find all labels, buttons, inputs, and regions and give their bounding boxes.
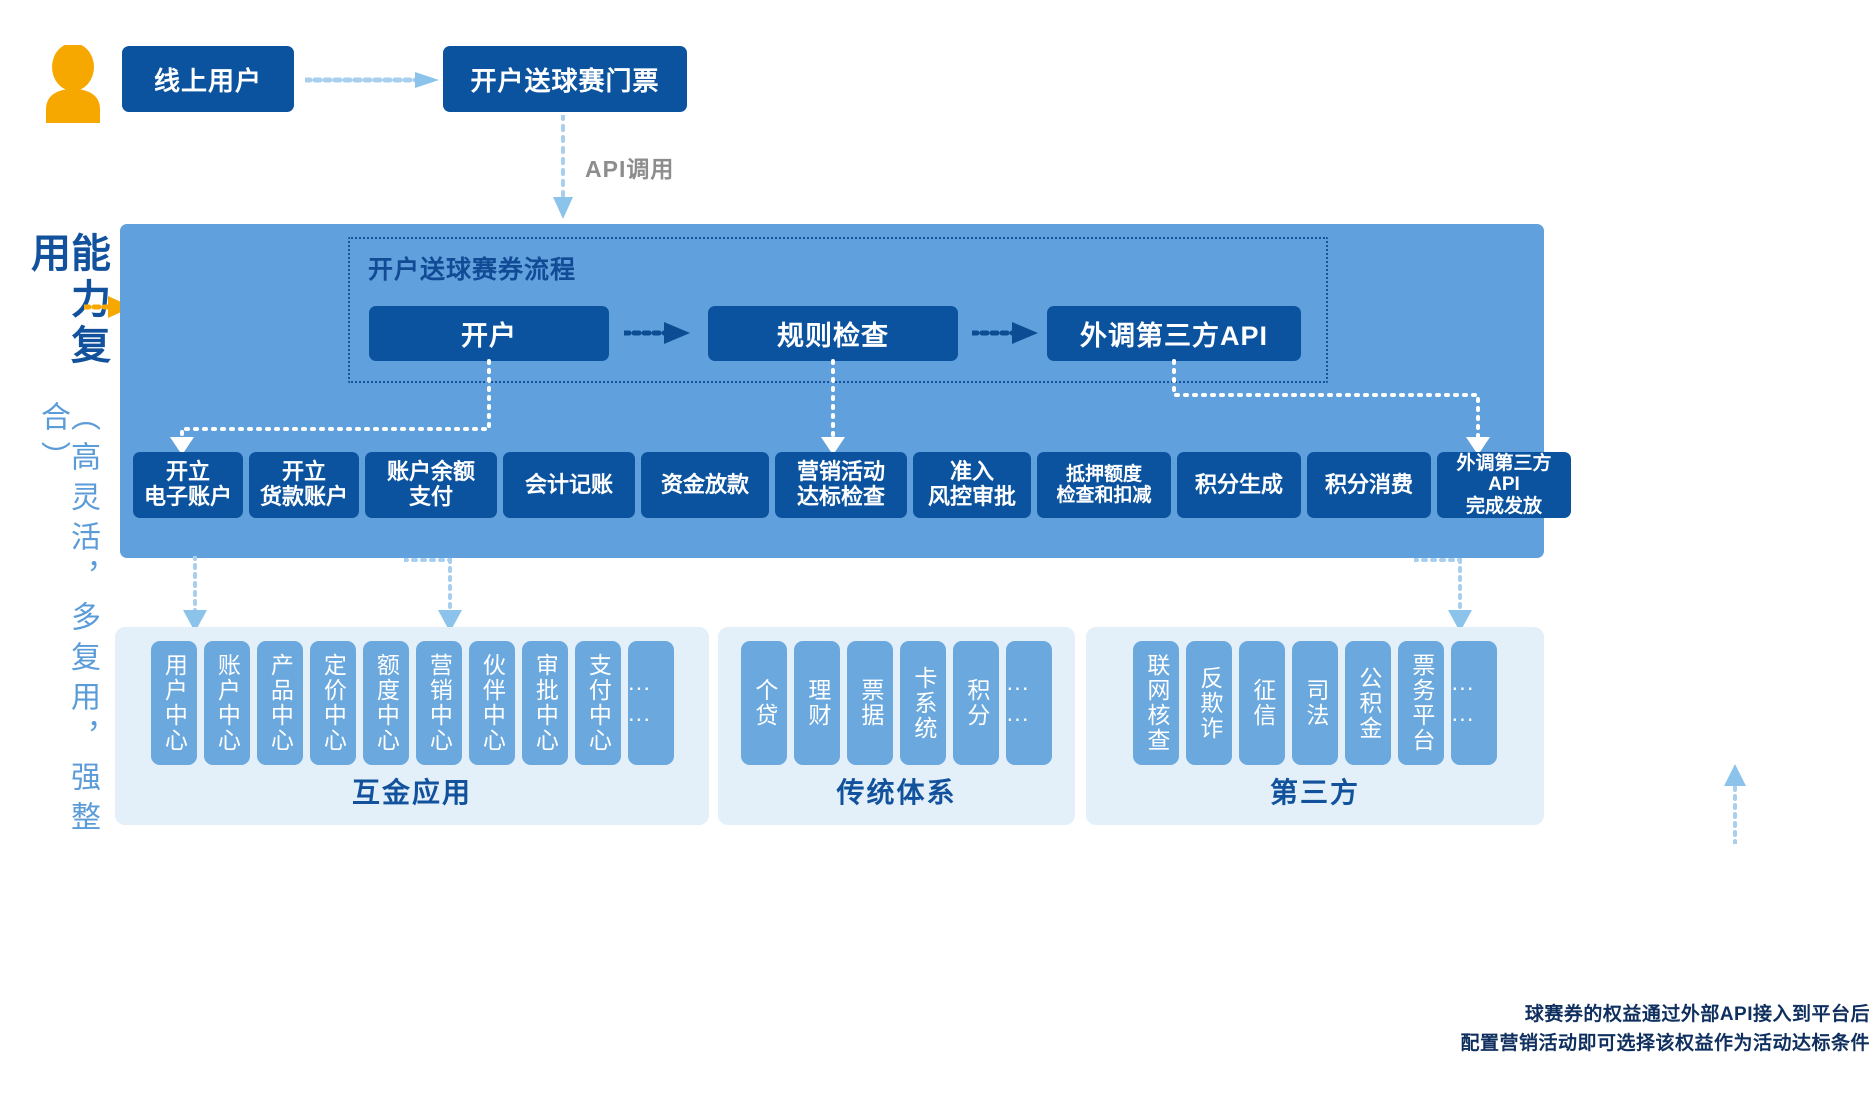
capability-chip[interactable]: 账户余额 支付 — [365, 452, 497, 518]
system-chip[interactable]: 联网核查 — [1133, 641, 1179, 765]
box-online-user[interactable]: 线上用户 — [122, 46, 294, 112]
system-chip[interactable]: 支付中心 — [575, 641, 621, 765]
flow-step-open-account[interactable]: 开户 — [369, 306, 609, 361]
capability-chip[interactable]: 会计记账 — [503, 452, 635, 518]
capability-reuse-subtitle: （高灵活，多复用，强整合） — [37, 401, 97, 852]
capability-chip[interactable]: 外调第三方API 完成发放 — [1437, 452, 1571, 518]
capability-chip[interactable]: 积分消费 — [1307, 452, 1431, 518]
capability-reuse-caption: 能力复用 （高灵活，多复用，强整合） — [30, 232, 104, 852]
capability-chip[interactable]: 开立 货款账户 — [249, 452, 359, 518]
capability-chip[interactable]: 抵押额度 检查和扣减 — [1037, 452, 1171, 518]
system-chip-more[interactable]: ··· ··· — [1451, 641, 1497, 765]
system-panel-chuantong: 个贷 理财 票据 卡系统 积分 ··· ··· 传统体系 — [718, 627, 1075, 825]
capability-chip[interactable]: 开立 电子账户 — [133, 452, 243, 518]
system-chip[interactable]: 积分 — [953, 641, 999, 765]
system-chip[interactable]: 理财 — [794, 641, 840, 765]
system-chip[interactable]: 产品中心 — [257, 641, 303, 765]
flow-frame-title: 开户送球赛券流程 — [368, 250, 576, 286]
system-panel-title: 第三方 — [1086, 771, 1544, 811]
system-chip[interactable]: 定价中心 — [310, 641, 356, 765]
box-gift-ticket[interactable]: 开户送球赛门票 — [443, 46, 687, 112]
flow-arrow-2-icon — [972, 322, 1038, 344]
system-chip[interactable]: 卡系统 — [900, 641, 946, 765]
system-chip[interactable]: 征信 — [1239, 641, 1285, 765]
system-chip-more[interactable]: ··· ··· — [1006, 641, 1052, 765]
system-chip-row: 联网核查 反欺诈 征信 司法 公积金 票务平台 ··· ··· — [1086, 641, 1544, 765]
system-chip[interactable]: 账户中心 — [204, 641, 250, 765]
system-panel-hujin: 用户中心 账户中心 产品中心 定价中心 额度中心 营销中心 伙伴中心 审批中心 … — [115, 627, 709, 825]
system-chip[interactable]: 用户中心 — [151, 641, 197, 765]
diagram-canvas: 线上用户 开户送球赛门票 API调用 能力复用 （高灵活，多复用，强整合） 开户… — [0, 0, 1876, 1097]
connector-to-hujin-1 — [182, 556, 208, 632]
system-chip-more[interactable]: ··· ··· — [628, 641, 674, 765]
system-chip[interactable]: 审批中心 — [522, 641, 568, 765]
person-icon — [40, 45, 106, 123]
connector-to-hujin-2 — [404, 556, 464, 632]
system-chip[interactable]: 公积金 — [1345, 641, 1391, 765]
capability-chip[interactable]: 准入 风控审批 — [913, 452, 1031, 518]
connector-to-third-party — [1414, 556, 1474, 632]
capability-chip-row: 开立 电子账户 开立 货款账户 账户余额 支付 会计记账 资金放款 营销活动 达… — [133, 452, 1531, 518]
flow-step-third-party-api[interactable]: 外调第三方API — [1047, 306, 1301, 361]
system-chip[interactable]: 额度中心 — [363, 641, 409, 765]
api-call-label: API调用 — [585, 150, 674, 184]
system-chip[interactable]: 票据 — [847, 641, 893, 765]
system-chip[interactable]: 伙伴中心 — [469, 641, 515, 765]
flow-arrow-1-icon — [624, 322, 690, 344]
arrow-user-to-ticket-icon — [305, 72, 439, 88]
bottom-note: 球赛券的权益通过外部API接入到平台后 配置营销活动即可选择该权益作为活动达标条… — [1180, 1000, 1870, 1059]
capability-chip[interactable]: 资金放款 — [641, 452, 769, 518]
system-panel-title: 互金应用 — [115, 771, 709, 811]
bottom-note-line-2: 配置营销活动即可选择该权益作为活动达标条件 — [1180, 1029, 1870, 1058]
system-chip[interactable]: 司法 — [1292, 641, 1338, 765]
connector-ticket-platform-up — [1724, 760, 1746, 844]
system-chip-row: 用户中心 账户中心 产品中心 定价中心 额度中心 营销中心 伙伴中心 审批中心 … — [115, 641, 709, 765]
flow-step-rule-check[interactable]: 规则检查 — [708, 306, 958, 361]
system-chip[interactable]: 票务平台 — [1398, 641, 1444, 765]
capability-chip[interactable]: 积分生成 — [1177, 452, 1301, 518]
system-panel-disanfang: 联网核查 反欺诈 征信 司法 公积金 票务平台 ··· ··· 第三方 — [1086, 627, 1544, 825]
system-chip[interactable]: 个贷 — [741, 641, 787, 765]
bottom-note-line-1: 球赛券的权益通过外部API接入到平台后 — [1180, 1000, 1870, 1029]
system-panel-title: 传统体系 — [718, 771, 1075, 811]
capability-chip[interactable]: 营销活动 达标检查 — [775, 452, 907, 518]
arrow-api-call-icon — [553, 115, 573, 219]
system-chip[interactable]: 反欺诈 — [1186, 641, 1232, 765]
flow-to-capability-connectors — [120, 355, 1544, 455]
system-chip-row: 个贷 理财 票据 卡系统 积分 ··· ··· — [718, 641, 1075, 765]
system-chip[interactable]: 营销中心 — [416, 641, 462, 765]
